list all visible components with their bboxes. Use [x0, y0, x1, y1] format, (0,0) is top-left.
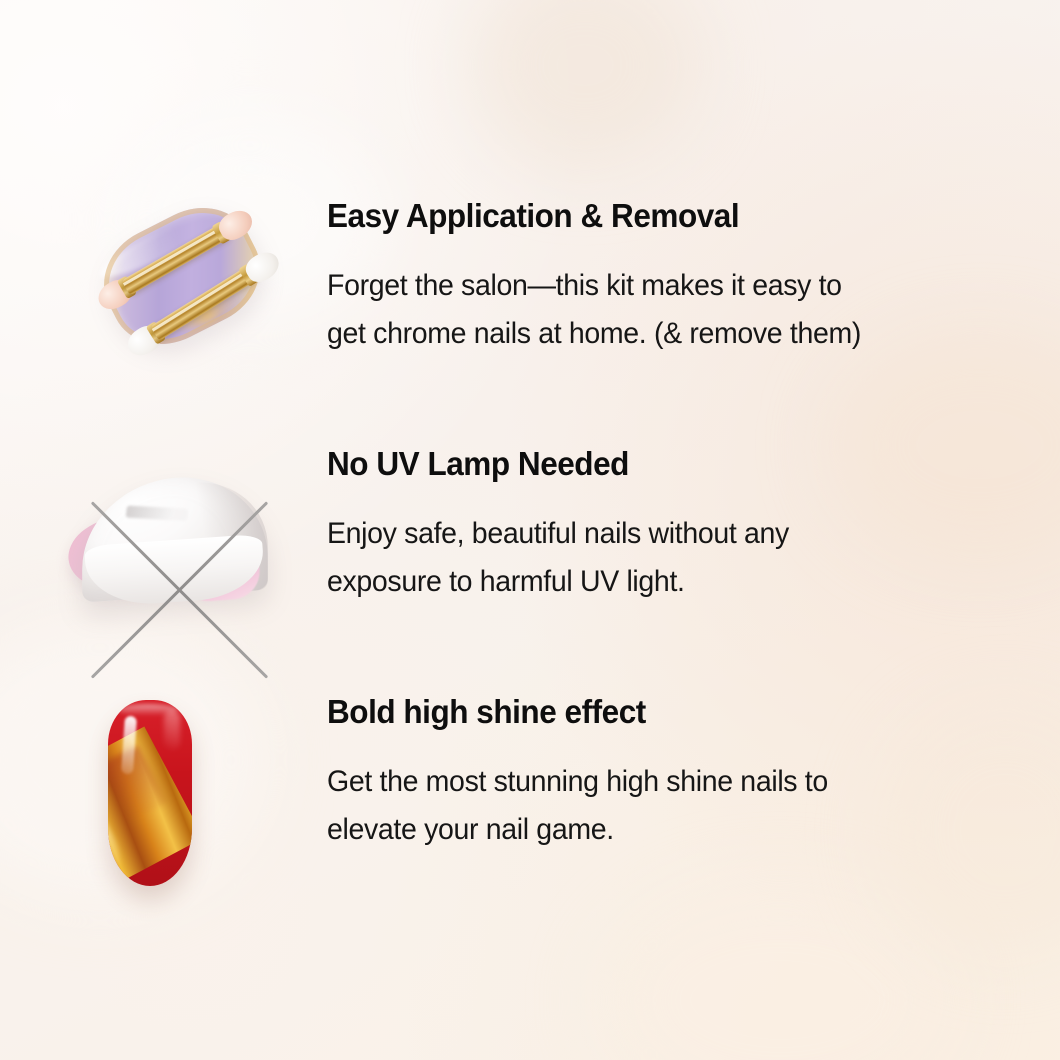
feature-body: Get the most stunning high shine nails t… — [327, 758, 954, 854]
feature-body-line: Enjoy safe, beautiful nails without any — [327, 510, 954, 558]
nail-gloss-highlight-secondary — [164, 710, 180, 750]
feature-copy-no-uv-lamp: No UV Lamp Needed Enjoy safe, beautiful … — [327, 444, 987, 606]
feature-copy-bold-high-shine: Bold high shine effect Get the most stun… — [327, 692, 987, 854]
uv-lamp-crossed-out-icon — [60, 444, 312, 654]
feature-copy-easy-application: Easy Application & Removal Forget the sa… — [327, 196, 987, 358]
feature-body-line: get chrome nails at home. (& remove them… — [327, 310, 954, 358]
paper-texture-blotch — [600, 880, 960, 1060]
chrome-nail-icon — [108, 700, 192, 886]
paper-texture-blotch — [470, 0, 700, 170]
feature-body: Forget the salon—this kit makes it easy … — [327, 262, 954, 358]
feature-body-line: Get the most stunning high shine nails t… — [327, 758, 954, 806]
feature-heading: No UV Lamp Needed — [327, 444, 957, 484]
feature-media-easy-application — [60, 196, 312, 406]
feature-heading: Easy Application & Removal — [327, 196, 957, 236]
uv-lamp-brand-emboss — [126, 506, 189, 521]
nail-red-gloss-body — [108, 700, 192, 886]
feature-body: Enjoy safe, beautiful nails without any … — [327, 510, 954, 606]
feature-body-line: exposure to harmful UV light. — [327, 558, 954, 606]
feature-benefits-canvas: Easy Application & Removal Forget the sa… — [0, 0, 1060, 1060]
feature-body-line: Forget the salon—this kit makes it easy … — [327, 262, 954, 310]
nail-applicator-brushes-icon — [60, 196, 312, 406]
feature-body-line: elevate your nail game. — [327, 806, 954, 854]
feature-media-no-uv-lamp — [60, 444, 312, 654]
feature-media-bold-high-shine — [60, 692, 312, 902]
feature-heading: Bold high shine effect — [327, 692, 957, 732]
nail-gold-chrome-dip — [108, 727, 192, 886]
